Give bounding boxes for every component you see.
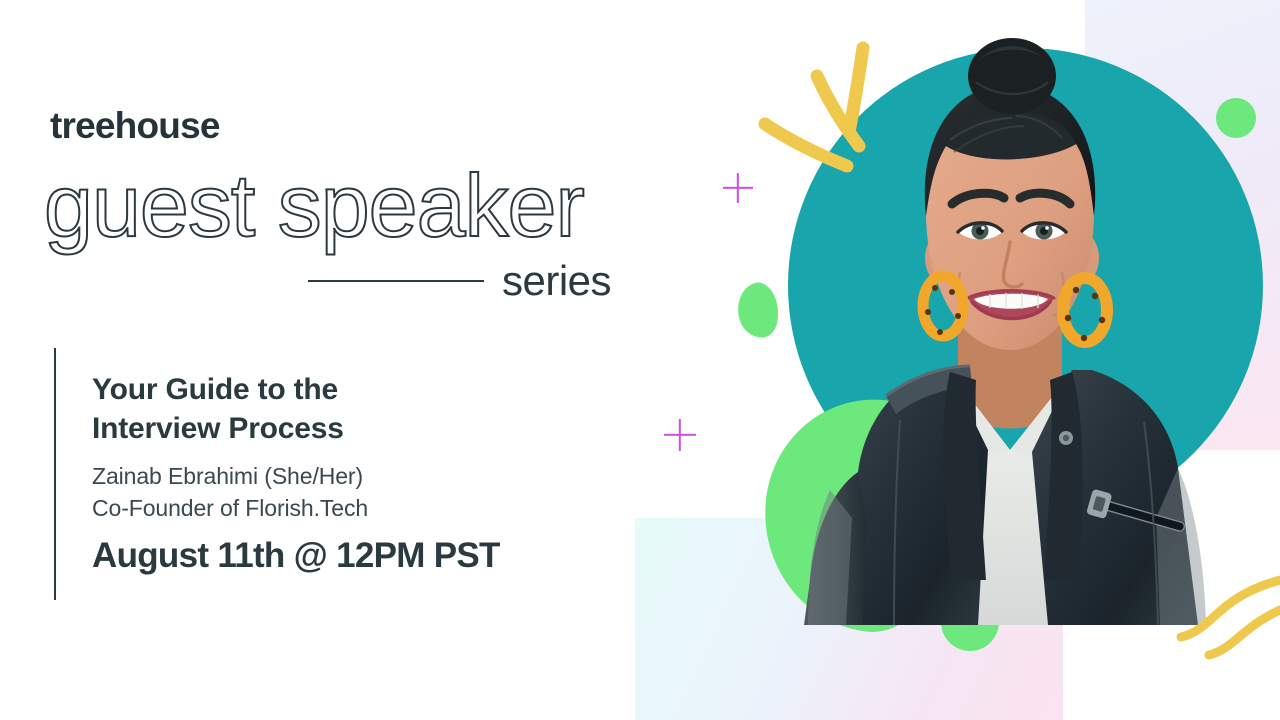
brand-wordmark: treehouse [50, 107, 220, 144]
event-datetime: August 11th @ 12PM PST [92, 538, 500, 573]
green-circle-top-right [1216, 98, 1256, 138]
speaker-info: Zainab Ebrahimi (She/Her) Co-Founder of … [92, 461, 368, 524]
yellow-squiggle-lines-icon [1175, 575, 1280, 665]
talk-title-line-2: Interview Process [92, 409, 344, 448]
headline-outline-text: guest speaker [44, 162, 584, 250]
vertical-accent-rule [54, 348, 56, 600]
portrait-artwork [800, 20, 1220, 625]
magenta-plus-icon-lower [664, 419, 696, 451]
speaker-role: Co-Founder of Florish.Tech [92, 493, 368, 525]
series-row: series [308, 255, 628, 307]
talk-title-line-1: Your Guide to the [92, 370, 344, 409]
speaker-name: Zainab Ebrahimi (She/Her) [92, 461, 368, 493]
green-blob-small [733, 279, 784, 341]
slide-canvas: treehouse guest speaker series Your Guid… [0, 0, 1280, 720]
series-label: series [502, 260, 611, 302]
talk-title: Your Guide to the Interview Process [92, 370, 344, 448]
magenta-plus-icon-upper [723, 173, 753, 203]
series-divider-rule [308, 280, 484, 282]
speaker-portrait-photo [800, 20, 1220, 625]
